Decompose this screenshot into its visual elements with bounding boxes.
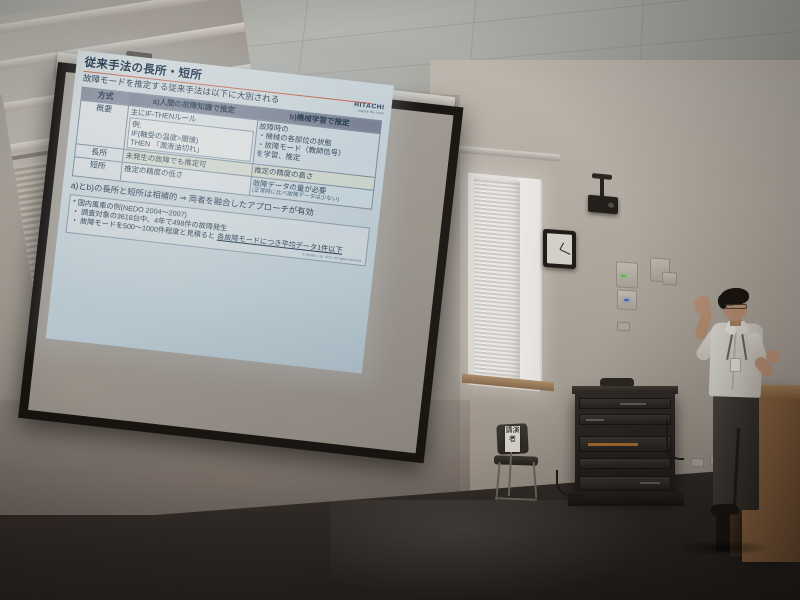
wall-control-panel-lower[interactable] bbox=[617, 289, 637, 310]
presenter bbox=[680, 288, 790, 548]
clock-face bbox=[547, 233, 572, 265]
speaker-sign: 講演者 bbox=[505, 426, 520, 452]
floor-light-reflection bbox=[330, 500, 660, 600]
av-rack bbox=[575, 392, 675, 497]
window-daylight bbox=[518, 177, 542, 387]
side-window bbox=[468, 173, 540, 392]
wall-outlet-left[interactable] bbox=[617, 322, 630, 332]
presenter-shoe bbox=[711, 503, 740, 516]
row-label-disadvantages: 短所 bbox=[73, 157, 123, 181]
av-rack-base bbox=[568, 492, 684, 506]
wall-control-panel-upper[interactable] bbox=[616, 261, 638, 289]
window-blinds[interactable] bbox=[474, 177, 520, 381]
av-rack-cable bbox=[556, 470, 582, 496]
conference-room-photo: 講演者 bbox=[0, 0, 800, 600]
projected-slide: HITACHI Inspire the Next 従来手法の長所・短所 故障モー… bbox=[46, 50, 394, 374]
wall-sensor-panel bbox=[662, 271, 677, 285]
presenter-glasses-icon bbox=[725, 304, 747, 309]
clock-minute-hand bbox=[559, 249, 570, 255]
presenter-forward-hand bbox=[766, 350, 780, 363]
wall-clock bbox=[543, 229, 576, 269]
presenter-id-badge bbox=[730, 358, 741, 372]
projector-lens-icon bbox=[608, 202, 614, 208]
ceiling-projector bbox=[588, 195, 618, 215]
speaker-chair-seat[interactable] bbox=[494, 455, 538, 466]
row-label-overview: 概要 bbox=[76, 100, 129, 149]
